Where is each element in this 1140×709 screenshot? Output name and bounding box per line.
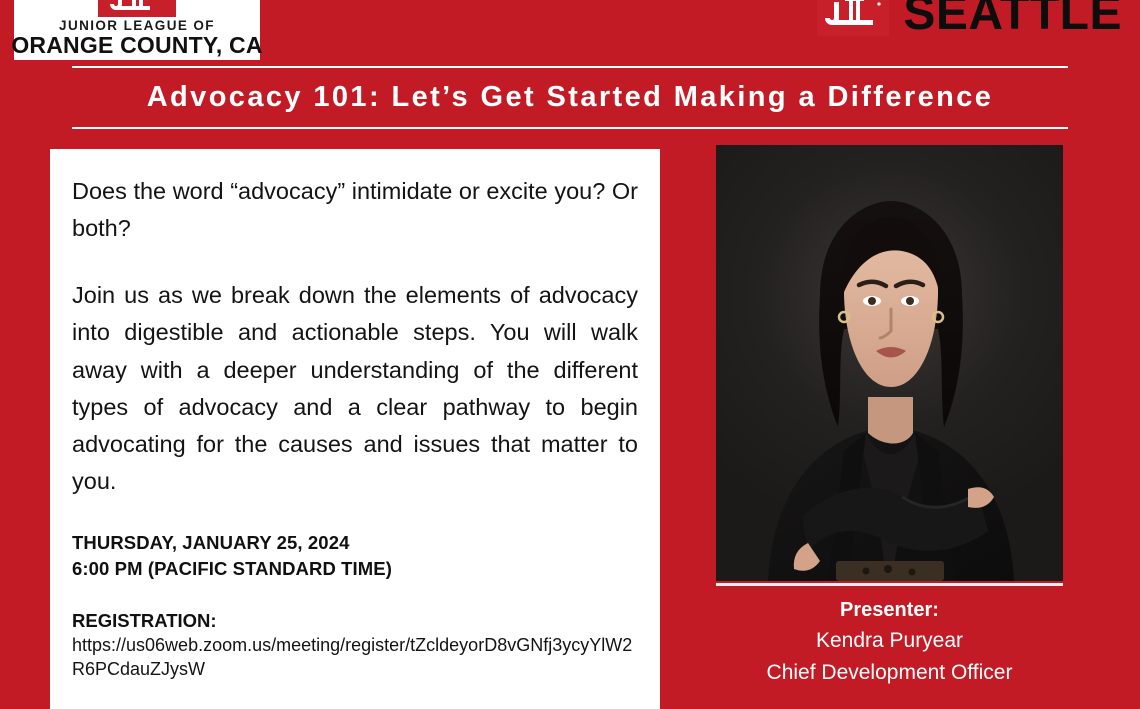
event-datetime: THURSDAY, JANUARY 25, 2024 6:00 PM (PACI… [72,530,638,583]
jl-column-monogram-icon [817,0,889,36]
jl-column-monogram-icon [98,0,176,17]
title-banner: Advocacy 101: Let’s Get Started Making a… [72,66,1068,129]
lead-paragraph: Does the word “advocacy” intimidate or e… [72,173,638,247]
logo-line-orange-county: ORANGE COUNTY, CA [11,33,262,58]
registration-label: REGISTRATION: [72,609,638,633]
photo-underline [716,583,1063,586]
logo-city-label: SEATTLE [903,0,1122,38]
registration-link[interactable]: https://us06web.zoom.us/meeting/register… [72,633,638,681]
logo-junior-league-orange-county: JUNIOR LEAGUE OF ORANGE COUNTY, CA [14,0,260,60]
logo-junior-league-seattle: SEATTLE [817,0,1122,38]
presenter-figure [716,145,1063,581]
presenter-role: Chief Development Officer [716,657,1063,689]
presenter-caption: Presenter: Kendra Puryear Chief Developm… [716,596,1063,688]
event-date: THURSDAY, JANUARY 25, 2024 [72,530,638,556]
presenter-name: Kendra Puryear [716,625,1063,657]
page-title: Advocacy 101: Let’s Get Started Making a… [72,68,1068,127]
presenter-label: Presenter: [716,596,1063,625]
body-paragraph: Join us as we break down the elements of… [72,277,638,500]
presenter-photo [716,145,1063,581]
event-time: 6:00 PM (PACIFIC STANDARD TIME) [72,556,638,582]
logo-line-junior-league-of: JUNIOR LEAGUE OF [59,19,215,33]
description-panel: Does the word “advocacy” intimidate or e… [50,149,660,709]
title-rule-bottom [72,127,1068,129]
